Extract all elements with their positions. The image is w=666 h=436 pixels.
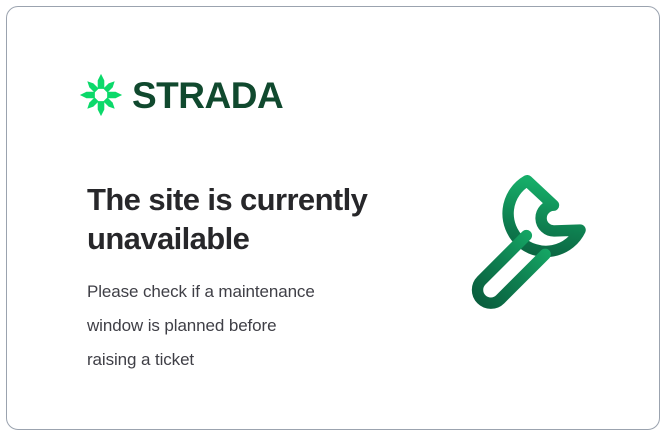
page-title: The site is currently unavailable	[87, 180, 427, 258]
status-card: STRADA The site is currently unavailable…	[6, 6, 660, 430]
brand-wordmark: STRADA	[132, 77, 283, 114]
starburst-logo-icon	[79, 73, 123, 117]
brand-lockup: STRADA	[79, 73, 283, 117]
status-description-line: window is planned before	[87, 309, 417, 343]
wrench-icon	[462, 165, 616, 319]
status-description-line: raising a ticket	[87, 343, 417, 377]
status-description: Please check if a maintenance window is …	[87, 275, 417, 377]
status-description-line: Please check if a maintenance	[87, 275, 417, 309]
